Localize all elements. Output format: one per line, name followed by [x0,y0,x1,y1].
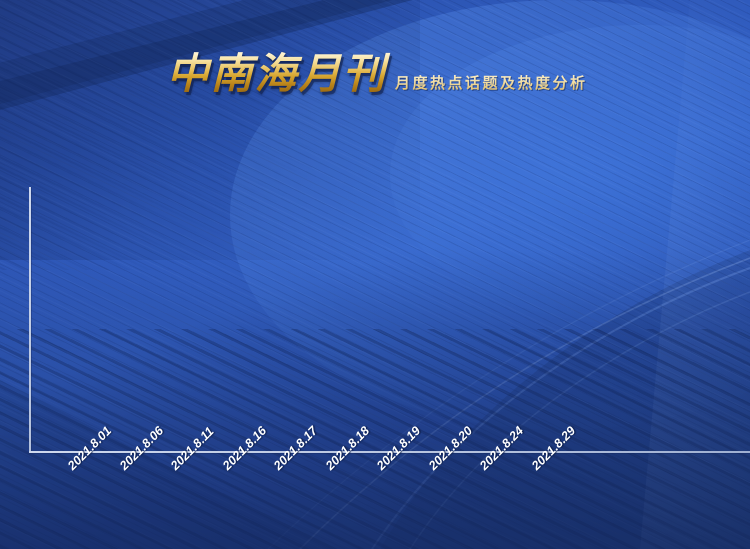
plot-area [31,188,750,451]
slide-canvas: 中南海月刊 月度热点话题及热度分析 2021.8.012021.8.062021… [0,0,750,549]
page-title: 中南海月刊 [163,52,391,96]
title-block: 中南海月刊 月度热点话题及热度分析 [0,52,750,96]
x-axis-tick-labels: 2021.8.012021.8.062021.8.112021.8.162021… [0,451,750,549]
page-subtitle: 月度热点话题及热度分析 [395,72,588,93]
